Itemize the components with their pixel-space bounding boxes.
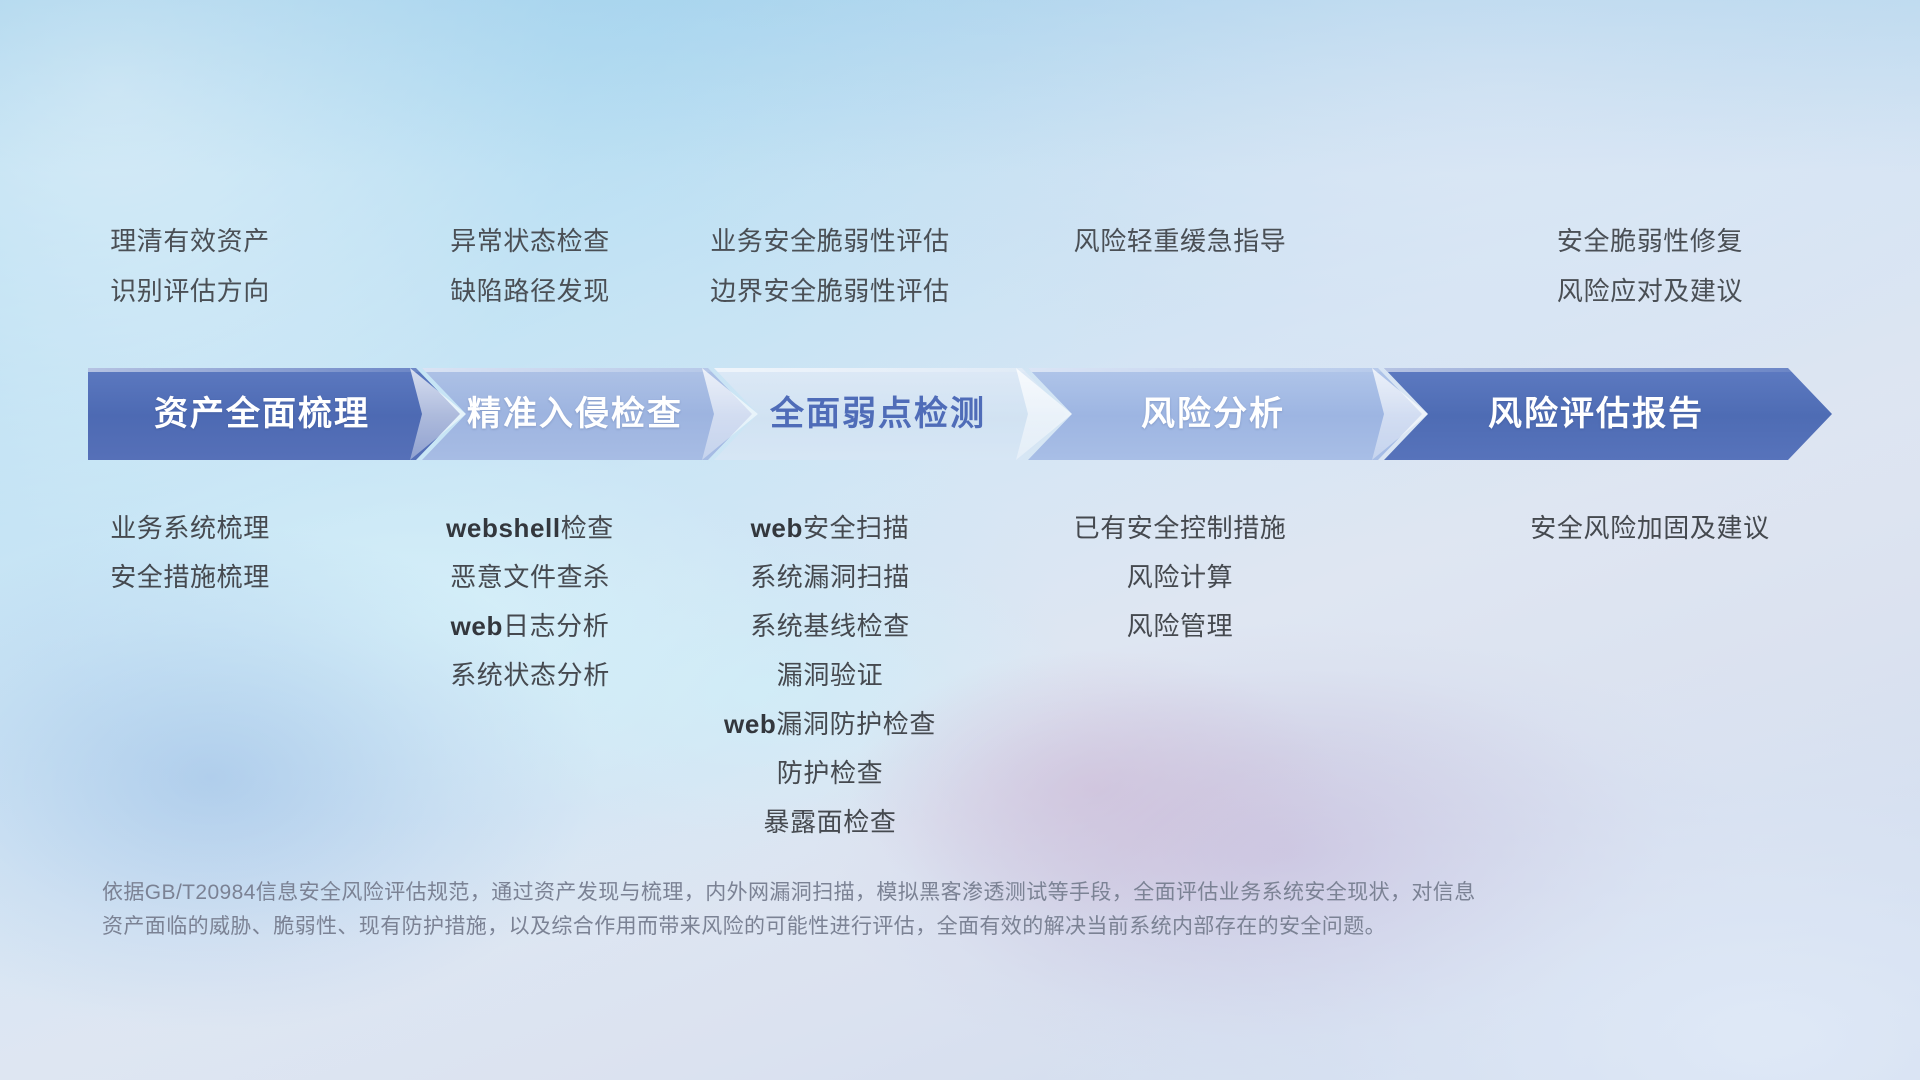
stage-chevron-asset-inventory[interactable]: 资产全面梳理	[88, 368, 460, 460]
item-text: 漏洞防护检查	[776, 709, 936, 739]
item-text: 系统漏洞扫描	[750, 562, 910, 592]
item-text: 暴露面检查	[763, 807, 896, 837]
bottom-list-item: 暴露面检查	[680, 809, 980, 835]
top-list-intrusion-check: 异常状态检查 缺陷路径发现	[380, 228, 680, 304]
stage-chevron-label: 精准入侵检查	[467, 397, 683, 431]
footer-description: 依据GB/T20984信息安全风险评估规范，通过资产发现与梳理，内外网漏洞扫描，…	[102, 876, 1722, 944]
bottom-list-item: webshell检查	[380, 515, 680, 541]
stage-chevron-weakness-detection[interactable]: 全面弱点检测	[714, 368, 1066, 460]
chevron-highlight	[1384, 368, 1832, 372]
bottom-list-item: 安全风险加固及建议	[1380, 515, 1920, 541]
top-list-item: 边界安全脆弱性评估	[680, 278, 980, 304]
item-text: 已有安全控制措施	[1074, 513, 1287, 543]
bottom-list-item: web安全扫描	[680, 515, 980, 541]
top-list-item: 安全脆弱性修复	[1380, 228, 1920, 254]
item-text: 检查	[561, 513, 614, 543]
chevron-highlight	[1028, 368, 1422, 372]
top-list-risk-analysis: 风险轻重缓急指导	[980, 228, 1380, 304]
bottom-list-risk-analysis: 已有安全控制措施 风险计算 风险管理	[980, 515, 1380, 835]
item-keyword: webshell	[446, 513, 561, 543]
top-list-item: 理清有效资产	[0, 228, 380, 254]
top-list-weakness-detection: 业务安全脆弱性评估 边界安全脆弱性评估	[680, 228, 980, 304]
stage-chevron-label: 风险评估报告	[1488, 397, 1704, 431]
top-list-item: 业务安全脆弱性评估	[680, 228, 980, 254]
item-text: 系统状态分析	[450, 660, 610, 690]
footer-line-2: 资产面临的威胁、脆弱性、现有防护措施，以及综合作用而带来风险的可能性进行评估，全…	[102, 910, 1722, 944]
bottom-list-weakness-detection: web安全扫描 系统漏洞扫描 系统基线检查 漏洞验证 web漏洞防护检查 防护检…	[680, 515, 980, 835]
bottom-list-item: 恶意文件查杀	[380, 564, 680, 590]
bottom-list-item: 安全措施梳理	[0, 564, 380, 590]
top-list-asset-inventory: 理清有效资产 识别评估方向	[0, 228, 380, 304]
bottom-list-asset-inventory: 业务系统梳理 安全措施梳理	[0, 515, 380, 835]
stage-chevron-label: 风险分析	[1141, 397, 1285, 431]
stage-chevron-risk-report[interactable]: 风险评估报告	[1384, 368, 1832, 460]
item-text: 防护检查	[777, 758, 883, 788]
top-list-item: 异常状态检查	[380, 228, 680, 254]
item-text: 恶意文件查杀	[450, 562, 610, 592]
bottom-list-item: 风险计算	[980, 564, 1380, 590]
footer-line-1: 依据GB/T20984信息安全风险评估规范，通过资产发现与梳理，内外网漏洞扫描，…	[102, 876, 1722, 910]
item-keyword: web	[724, 709, 776, 739]
bottom-list-item: 已有安全控制措施	[980, 515, 1380, 541]
top-list-item: 识别评估方向	[0, 278, 380, 304]
item-text: 安全扫描	[803, 513, 909, 543]
bottom-list-item: 系统状态分析	[380, 662, 680, 688]
bottom-list-item: 漏洞验证	[680, 662, 980, 688]
stage-chevron-label: 资产全面梳理	[154, 397, 370, 431]
top-list-item: 风险轻重缓急指导	[980, 228, 1380, 254]
item-text: 漏洞验证	[777, 660, 883, 690]
item-text: 安全措施梳理	[110, 562, 270, 592]
item-keyword: web	[451, 611, 503, 641]
item-text: 系统基线检查	[750, 611, 910, 641]
stage-chevron-intrusion-check[interactable]: 精准入侵检查	[422, 368, 752, 460]
item-text: 安全风险加固及建议	[1530, 513, 1769, 543]
top-list-item: 缺陷路径发现	[380, 278, 680, 304]
item-keyword: web	[751, 513, 803, 543]
item-text: 风险计算	[1127, 562, 1233, 592]
item-text: 日志分析	[503, 611, 609, 641]
chevron-highlight	[714, 368, 1066, 372]
top-outcome-row: 理清有效资产 识别评估方向 异常状态检查 缺陷路径发现 业务安全脆弱性评估 边界…	[0, 228, 1920, 304]
stage-chevron-risk-analysis[interactable]: 风险分析	[1028, 368, 1422, 460]
bottom-list-item: 业务系统梳理	[0, 515, 380, 541]
bottom-list-item: web日志分析	[380, 613, 680, 639]
slide-canvas: 理清有效资产 识别评估方向 异常状态检查 缺陷路径发现 业务安全脆弱性评估 边界…	[0, 0, 1920, 1080]
bottom-activity-row: 业务系统梳理 安全措施梳理 webshell检查 恶意文件查杀 web日志分析 …	[0, 515, 1920, 835]
bottom-list-item: 风险管理	[980, 613, 1380, 639]
bottom-list-item: 系统漏洞扫描	[680, 564, 980, 590]
bottom-list-intrusion-check: webshell检查 恶意文件查杀 web日志分析 系统状态分析	[380, 515, 680, 835]
item-text: 风险管理	[1127, 611, 1233, 641]
bottom-list-item: 系统基线检查	[680, 613, 980, 639]
item-text: 业务系统梳理	[110, 513, 270, 543]
chevron-highlight	[88, 368, 460, 372]
top-list-risk-report: 安全脆弱性修复 风险应对及建议	[1380, 228, 1920, 304]
bottom-list-risk-report: 安全风险加固及建议	[1380, 515, 1920, 835]
process-chevron-band: 资产全面梳理 精准入侵检查 全面弱点检测 风险分析 风险评估报告	[88, 368, 1832, 460]
top-list-item: 风险应对及建议	[1380, 278, 1920, 304]
stage-chevron-label: 全面弱点检测	[770, 397, 986, 431]
bottom-list-item: 防护检查	[680, 760, 980, 786]
bottom-list-item: web漏洞防护检查	[680, 711, 980, 737]
chevron-highlight	[422, 368, 752, 372]
